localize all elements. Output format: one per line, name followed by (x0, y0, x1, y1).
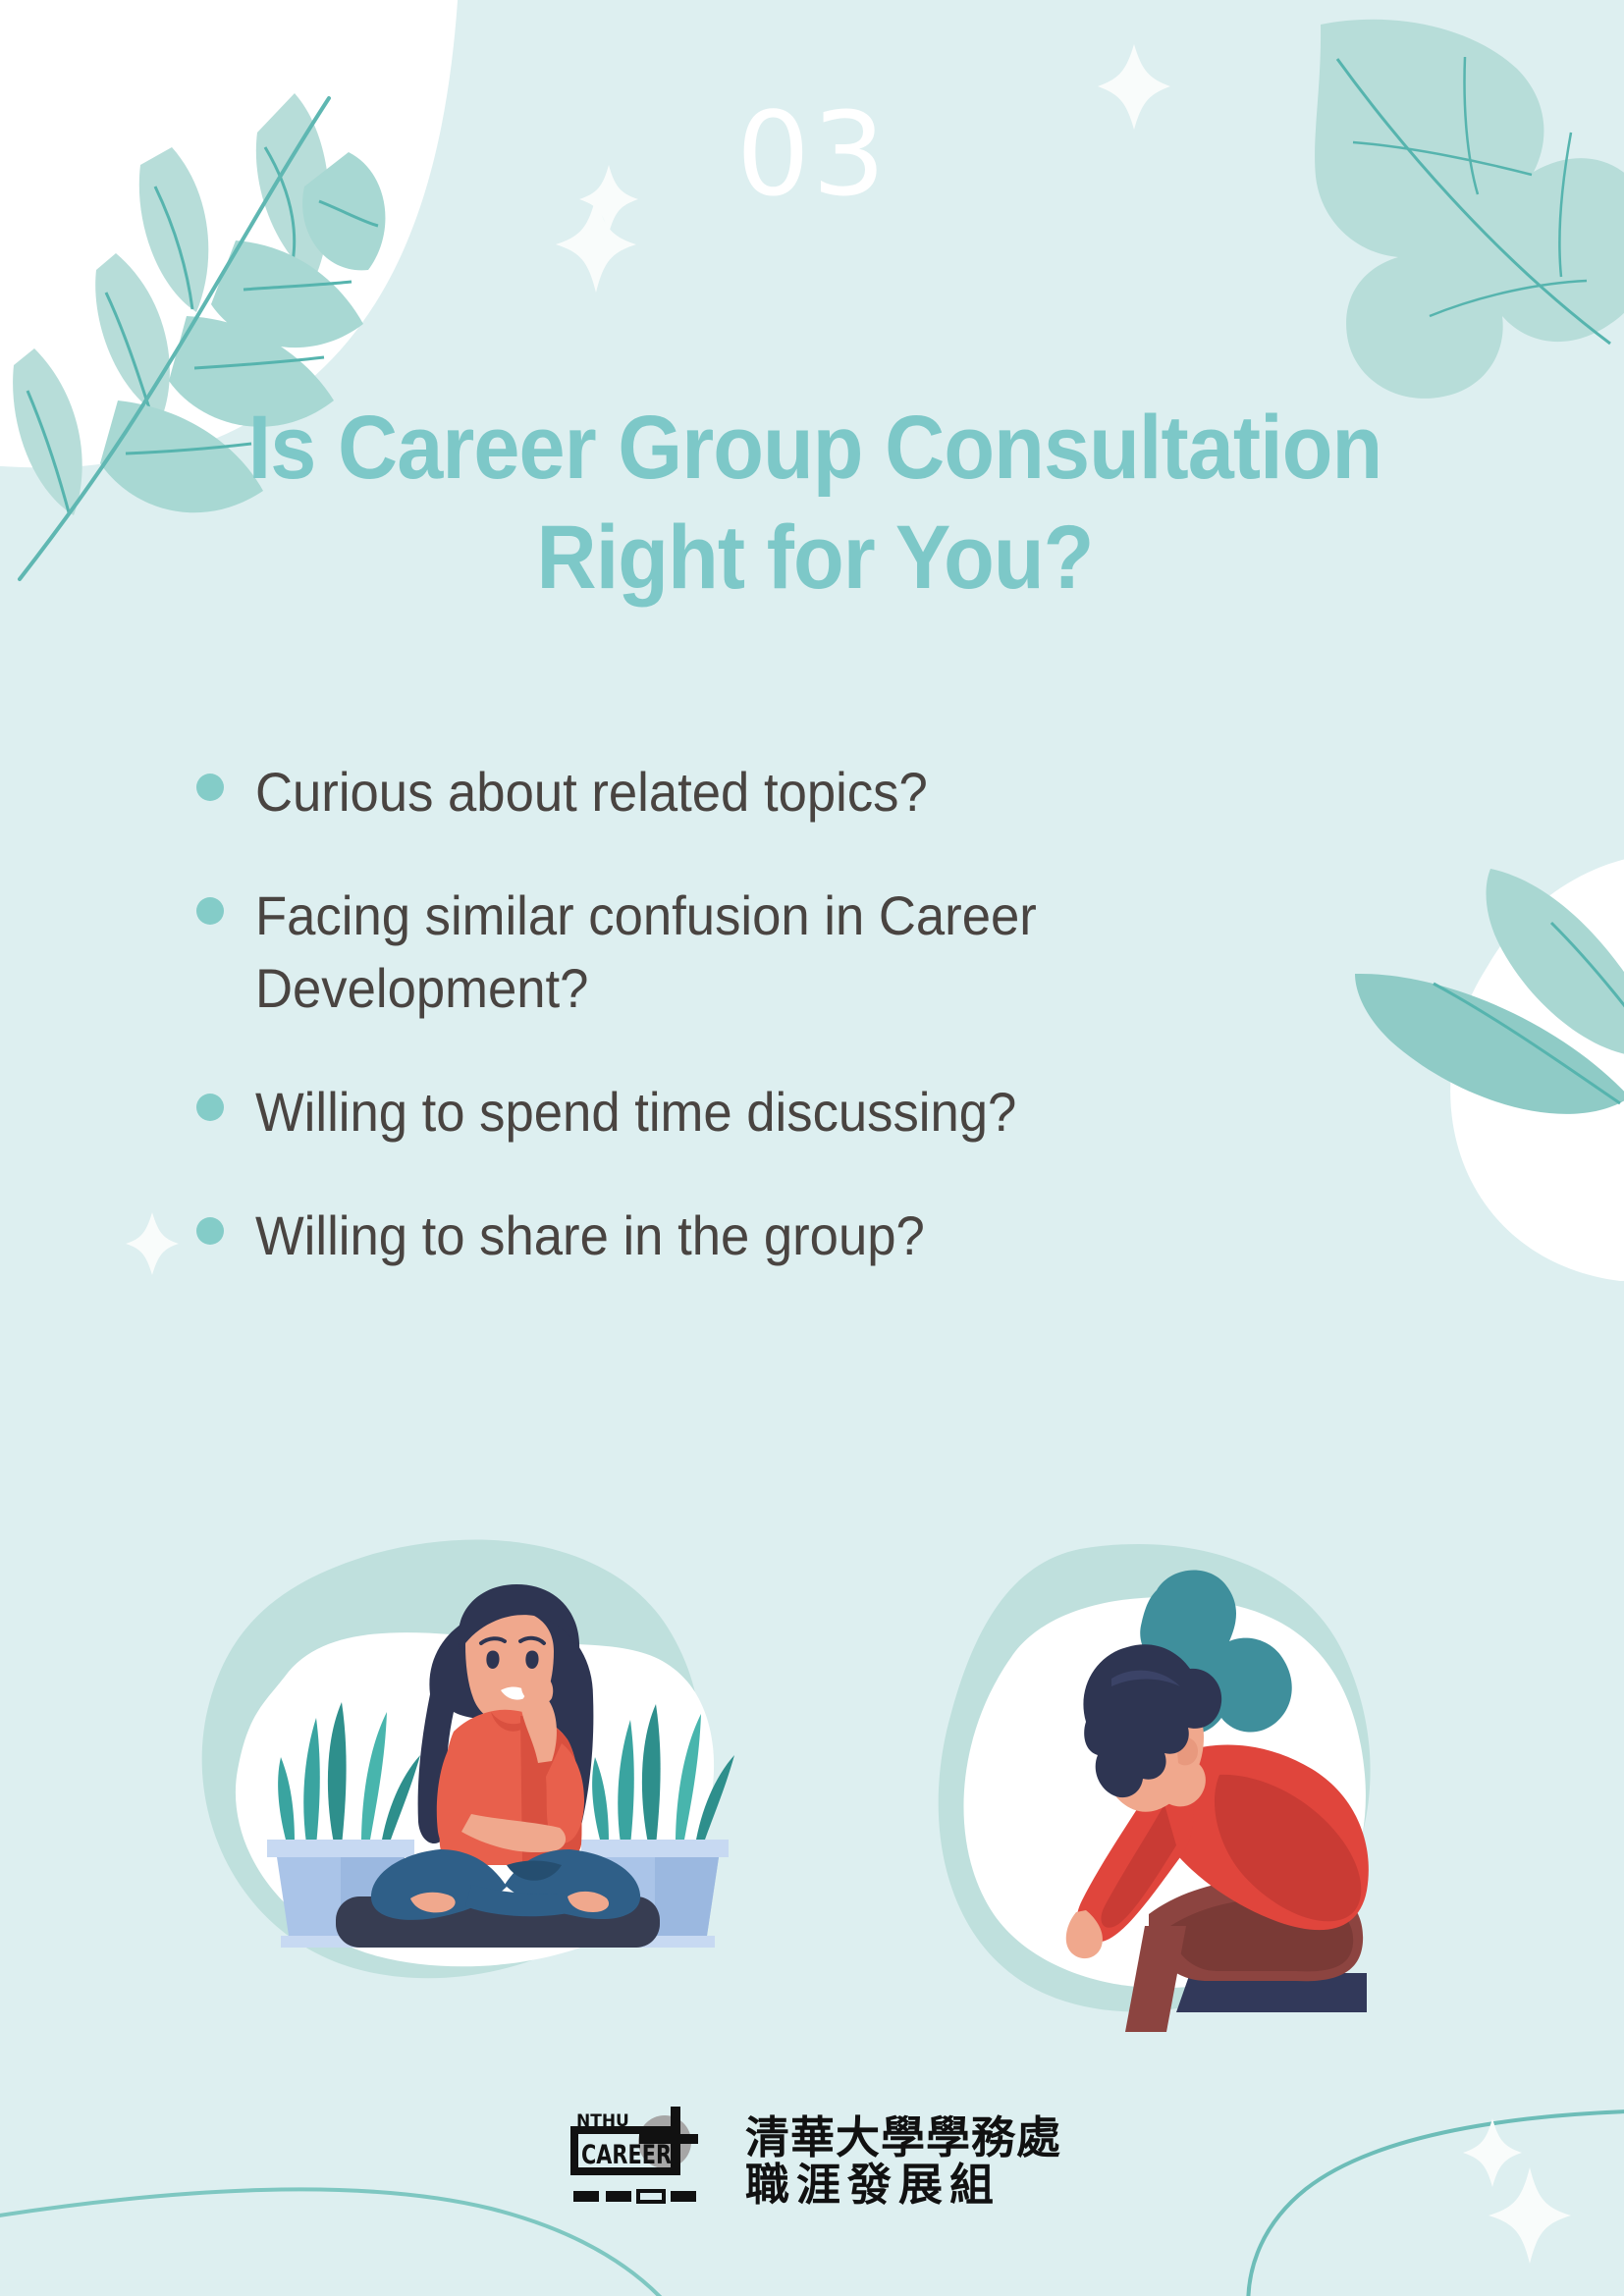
page-title: Is Career Group Consultation Right for Y… (118, 393, 1512, 613)
footer-logo: NTHU CAREER 清華大學學務處 職涯發展組 (0, 2099, 1624, 2224)
bullet-dot-icon (196, 897, 224, 925)
bullet-dot-icon (196, 1094, 224, 1121)
logo-dash-1 (573, 2191, 599, 2202)
logo-dash-2 (606, 2191, 631, 2202)
list-item: Willing to spend time discussing? (196, 1076, 1375, 1148)
pot-rim (267, 1840, 414, 1857)
list-item: Curious about related topics? (196, 756, 1375, 828)
pot-rim (581, 1840, 729, 1857)
list-item-label: Willing to spend time discussing? (255, 1076, 1016, 1148)
illustration-sad-man (913, 1529, 1404, 2050)
org-name: 清華大學學務處 職涯發展組 (745, 2114, 1061, 2208)
poster-canvas: 03 Is Career Group Consultation Right fo… (0, 0, 1624, 2296)
bullet-dot-icon (196, 774, 224, 801)
org-name-line-1: 清華大學學務處 (745, 2114, 1061, 2162)
illustration-anxious-woman (177, 1520, 785, 2040)
title-line-1: Is Career Group Consultation (174, 393, 1456, 503)
bullet-dot-icon (196, 1217, 224, 1245)
list-item-label: Curious about related topics? (255, 756, 928, 828)
list-item-label: Facing similar confusion in Career Devel… (255, 880, 1233, 1025)
criteria-list: Curious about related topics? Facing sim… (196, 756, 1375, 1323)
sparkle-icon (126, 1212, 179, 1275)
org-name-line-2: 職涯發展組 (745, 2162, 1061, 2209)
list-item-label: Willing to share in the group? (255, 1200, 925, 1272)
section-number: 03 (0, 96, 1624, 212)
logo-dash-4 (671, 2191, 696, 2202)
list-item: Willing to share in the group? (196, 1200, 1375, 1272)
right-side-leaves (1355, 854, 1624, 1281)
list-item: Facing similar confusion in Career Devel… (196, 880, 1375, 1025)
title-line-2: Right for You? (174, 503, 1456, 613)
logo-dash-3 (638, 2191, 664, 2202)
logo-career-text: CAREER (581, 2140, 672, 2170)
nthu-career-logo-mark: NTHU CAREER (563, 2099, 720, 2224)
